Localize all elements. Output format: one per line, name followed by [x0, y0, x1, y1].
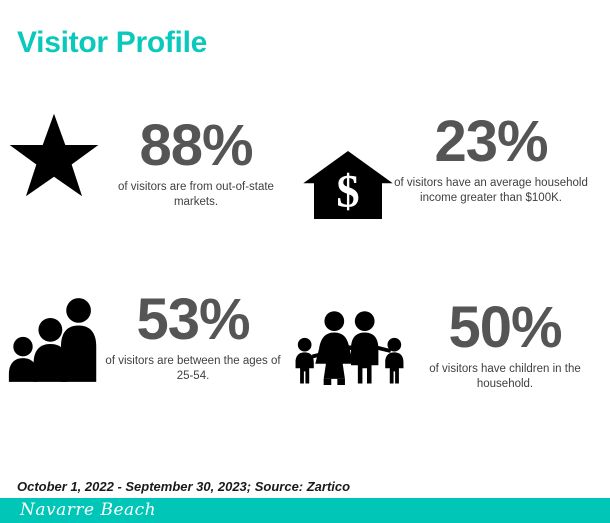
- source-note: October 1, 2022 - September 30, 2023; So…: [17, 479, 350, 494]
- stat-value: 53%: [136, 292, 249, 349]
- brand-name: Navarre Beach: [20, 500, 156, 520]
- stat-text-group: 88% of visitors are from out-of-state ma…: [100, 112, 292, 209]
- stat-text-group: 50% of visitors have children in the hou…: [407, 300, 603, 391]
- family-icon: [292, 300, 407, 388]
- stat-text-group: 53% of visitors are between the ages of …: [98, 292, 288, 383]
- stat-value: 23%: [434, 114, 547, 171]
- stat-value: 88%: [139, 118, 252, 175]
- stat-caption: of visitors are between the ages of 25-5…: [98, 354, 288, 383]
- stat-caption: of visitors are from out-of-state market…: [100, 180, 292, 209]
- stat-block-out-of-state: 88% of visitors are from out-of-state ma…: [8, 112, 292, 209]
- stat-value: 50%: [448, 300, 561, 357]
- brand-bar: Navarre Beach: [0, 498, 610, 523]
- star-icon: [8, 112, 100, 198]
- stat-block-age-range: 53% of visitors are between the ages of …: [8, 292, 288, 384]
- visitor-profile-slide: Visitor Profile 88% of visitors are from…: [0, 0, 610, 523]
- stat-block-household-income: $ 23% of visitors have an average househ…: [303, 112, 589, 232]
- house-dollar-icon: $: [303, 112, 393, 232]
- stat-text-group: 23% of visitors have an average househol…: [393, 112, 589, 205]
- stat-caption: of visitors have an average household in…: [393, 176, 589, 205]
- page-title: Visitor Profile: [17, 26, 207, 59]
- stat-block-children-in-household: 50% of visitors have children in the hou…: [292, 300, 603, 391]
- stat-caption: of visitors have children in the househo…: [407, 362, 603, 391]
- svg-text:$: $: [336, 166, 359, 217]
- three-people-ages-icon: [8, 292, 98, 384]
